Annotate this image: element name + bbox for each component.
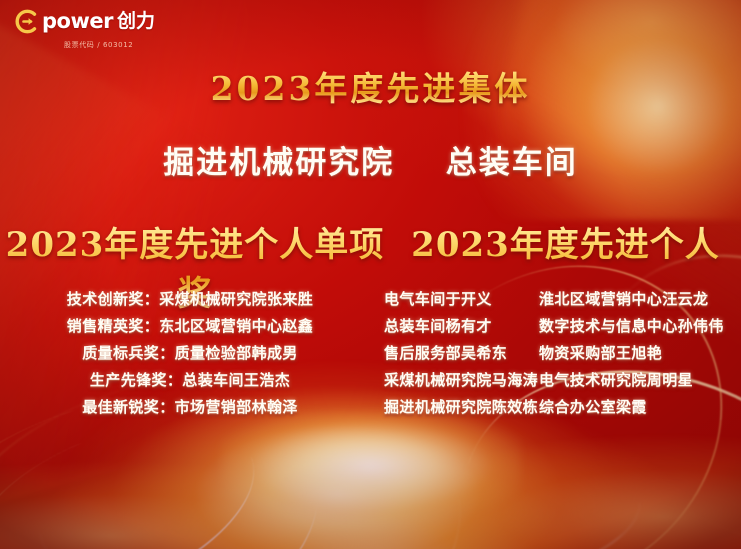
award-name-left: 掘进机械研究院陈效栋 [384, 394, 539, 421]
award-name-right: 数字技术与信息中心孙伟伟 [539, 313, 741, 340]
brand-logo: power 创力 股票代码 / 603012 [14, 9, 204, 50]
award-name-right: 综合办公室梁霞 [539, 394, 741, 421]
award-poster: power 创力 股票代码 / 603012 2023年度先进集体 掘进机械研究… [0, 0, 741, 549]
table-row: 电气车间于开义 淮北区域营销中心汪云龙 [384, 286, 741, 313]
award-name-left: 电气车间于开义 [384, 286, 539, 313]
award-name-left: 总装车间杨有才 [384, 313, 539, 340]
c-power-arrow-logo-icon [14, 9, 39, 34]
collective-winner-2: 总装车间 [446, 145, 578, 181]
individual-award-list: 电气车间于开义 淮北区域营销中心汪云龙 总装车间杨有才 数字技术与信息中心孙伟伟… [380, 286, 741, 421]
award-name-left: 售后服务部吴希东 [384, 340, 539, 367]
award-name-left: 采煤机械研究院马海涛 [384, 367, 539, 394]
table-row: 掘进机械研究院陈效栋 综合办公室梁霞 [384, 394, 741, 421]
collective-award-winners: 掘进机械研究院 总装车间 [0, 137, 741, 182]
award-name-right: 淮北区域营销中心汪云龙 [539, 286, 741, 313]
individual-special-award-list: 技术创新奖：采煤机械研究院张来胜 销售精英奖：东北区域营销中心赵鑫 质量标兵奖：… [0, 286, 380, 421]
list-item: 最佳新锐奖：市场营销部林翰泽 [0, 394, 380, 421]
collective-award-title: 2023年度先进集体 [0, 62, 741, 110]
table-row: 采煤机械研究院马海涛 电气技术研究院周明星 [384, 367, 741, 394]
brand-name-cn: 创力 [117, 12, 155, 31]
award-name-right: 电气技术研究院周明星 [539, 367, 741, 394]
table-row: 售后服务部吴希东 物资采购部王旭艳 [384, 340, 741, 367]
list-item: 质量标兵奖：质量检验部韩成男 [0, 340, 380, 367]
brand-logo-row: power 创力 [14, 9, 204, 34]
award-lists: 技术创新奖：采煤机械研究院张来胜 销售精英奖：东北区域营销中心赵鑫 质量标兵奖：… [0, 286, 741, 421]
brand-name-en: power [42, 11, 113, 32]
list-item: 销售精英奖：东北区域营销中心赵鑫 [0, 313, 380, 340]
stock-code-label: 股票代码 / 603012 [64, 40, 204, 50]
table-row: 总装车间杨有才 数字技术与信息中心孙伟伟 [384, 313, 741, 340]
collective-winner-1: 掘进机械研究院 [163, 145, 394, 181]
list-item: 生产先锋奖：总装车间王浩杰 [0, 367, 380, 394]
list-item: 技术创新奖：采煤机械研究院张来胜 [0, 286, 380, 313]
award-name-right: 物资采购部王旭艳 [539, 340, 741, 367]
